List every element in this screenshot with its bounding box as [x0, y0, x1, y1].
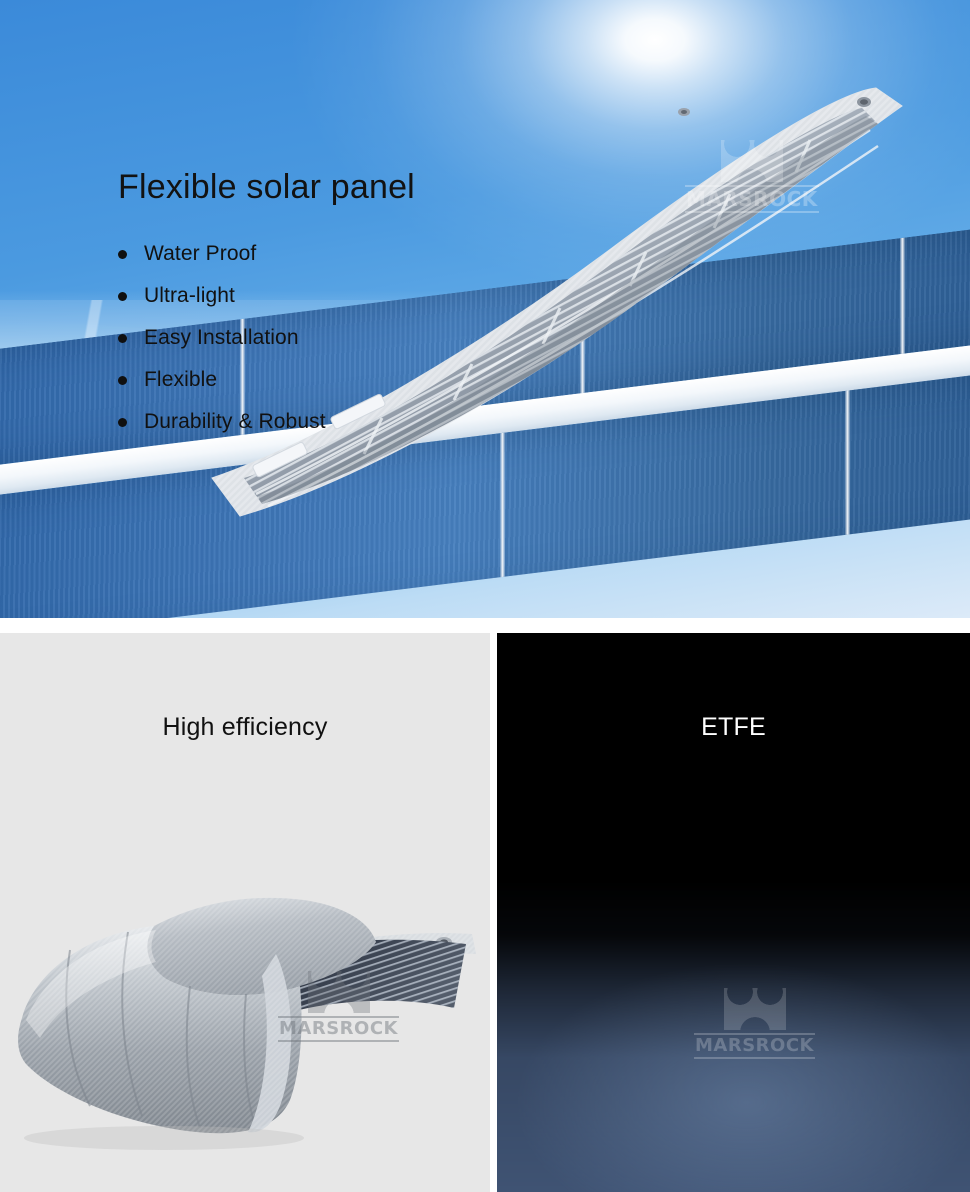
- rolled-flexible-panel-image: [4, 888, 486, 1188]
- array-mullion: [845, 390, 850, 551]
- feature-item: Durability & Robust: [118, 401, 415, 443]
- page-title: Flexible solar panel: [118, 168, 415, 207]
- hero-banner: MARSROCK Flexible solar panel Water Proo…: [0, 0, 970, 618]
- feature-label: Water Proof: [144, 242, 256, 266]
- bullet-icon: [118, 334, 127, 343]
- array-mullion: [900, 238, 905, 355]
- tile-etfe: ETFE MARSROCK: [497, 633, 970, 1192]
- bullet-icon: [118, 376, 127, 385]
- feature-tiles: High efficiency: [0, 633, 970, 1192]
- feature-item: Water Proof: [118, 233, 415, 275]
- feature-item: Ultra-light: [118, 275, 415, 317]
- feature-item: Flexible: [118, 359, 415, 401]
- bullet-icon: [118, 250, 127, 259]
- bullet-icon: [118, 418, 127, 427]
- tile-high-efficiency: High efficiency: [0, 633, 490, 1192]
- hero-copy-block: Flexible solar panel Water Proof Ultra-l…: [118, 168, 415, 443]
- feature-label: Easy Installation: [144, 326, 299, 350]
- array-mullion: [580, 277, 585, 394]
- product-banner-page: MARSROCK Flexible solar panel Water Proo…: [0, 0, 970, 1192]
- feature-label: Durability & Robust: [144, 410, 326, 434]
- feature-label: Flexible: [144, 368, 217, 392]
- feature-label: Ultra-light: [144, 284, 235, 308]
- tile-caption: ETFE: [497, 713, 970, 742]
- bullet-icon: [118, 292, 127, 301]
- feature-item: Easy Installation: [118, 317, 415, 359]
- feature-list: Water Proof Ultra-light Easy Installatio…: [118, 233, 415, 443]
- array-mullion: [500, 433, 505, 594]
- tile-caption: High efficiency: [0, 713, 490, 742]
